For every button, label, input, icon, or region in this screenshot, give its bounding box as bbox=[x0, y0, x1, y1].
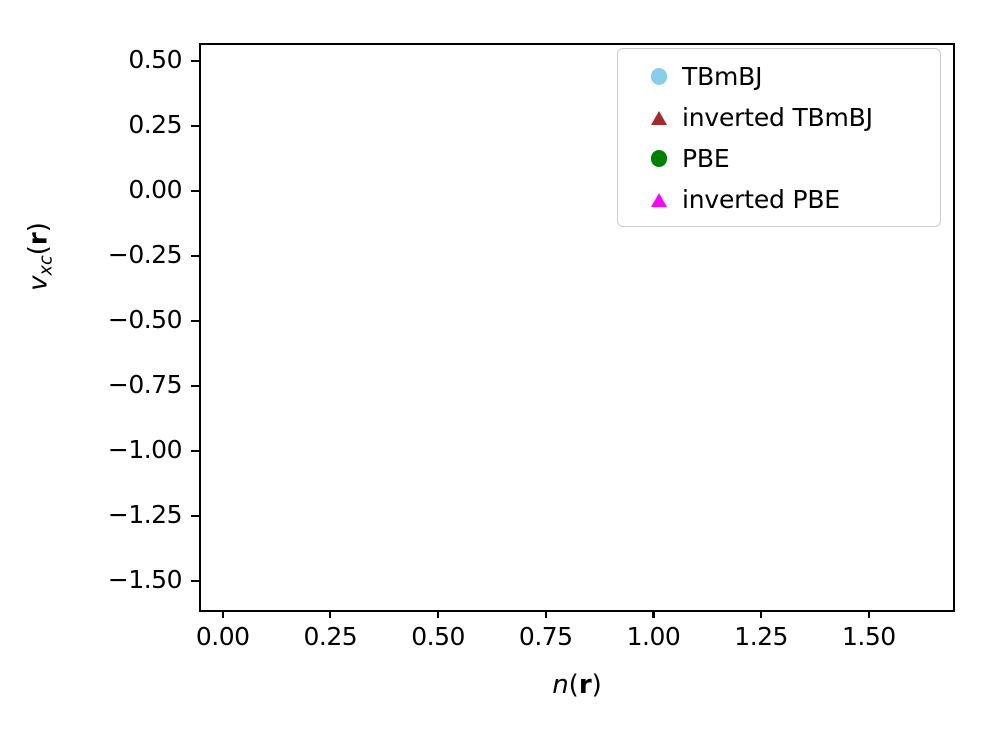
y-tick-mark bbox=[191, 580, 199, 582]
x-tick-label: 0.75 bbox=[486, 622, 606, 651]
y-tick-mark bbox=[191, 450, 199, 452]
triangle-marker bbox=[651, 193, 667, 207]
scatter-plot-figure: 0.000.250.500.751.001.251.500.500.250.00… bbox=[0, 0, 990, 750]
legend-item-inverted-tbmbj: inverted TBmBJ bbox=[618, 97, 940, 138]
y-tick-mark bbox=[191, 385, 199, 387]
legend-label: inverted PBE bbox=[682, 185, 840, 214]
x-tick-mark bbox=[545, 610, 547, 618]
y-tick-mark bbox=[191, 190, 199, 192]
legend-label: TBmBJ bbox=[682, 62, 762, 91]
x-tick-mark bbox=[868, 610, 870, 618]
circle-marker bbox=[651, 68, 667, 84]
y-tick-mark bbox=[191, 320, 199, 322]
y-tick-label: −1.25 bbox=[0, 500, 182, 529]
y-tick-mark bbox=[191, 255, 199, 257]
y-tick-mark bbox=[191, 125, 199, 127]
legend-marker bbox=[636, 68, 682, 84]
circle-marker bbox=[651, 150, 667, 166]
x-tick-label: 1.50 bbox=[809, 622, 929, 651]
x-tick-mark bbox=[222, 610, 224, 618]
legend-marker bbox=[636, 150, 682, 166]
legend-label: PBE bbox=[682, 144, 729, 173]
legend-item-pbe: PBE bbox=[618, 138, 940, 179]
legend-item-inverted-pbe: inverted PBE bbox=[618, 179, 940, 220]
y-tick-label: −1.00 bbox=[0, 435, 182, 464]
y-tick-label: 0.25 bbox=[0, 110, 182, 139]
x-tick-label: 0.25 bbox=[270, 622, 390, 651]
y-tick-mark bbox=[191, 515, 199, 517]
x-tick-label: 1.25 bbox=[701, 622, 821, 651]
x-tick-label: 1.00 bbox=[593, 622, 713, 651]
y-axis-label: vxc(r) bbox=[24, 156, 57, 356]
x-tick-label: 0.00 bbox=[163, 622, 283, 651]
x-axis-label: n(r) bbox=[199, 670, 955, 700]
x-tick-mark bbox=[760, 610, 762, 618]
x-tick-mark bbox=[329, 610, 331, 618]
legend-item-tbmbj: TBmBJ bbox=[618, 56, 940, 97]
legend-marker bbox=[636, 193, 682, 207]
legend-marker bbox=[636, 111, 682, 125]
y-tick-mark bbox=[191, 60, 199, 62]
legend-label: inverted TBmBJ bbox=[682, 103, 873, 132]
x-tick-mark bbox=[437, 610, 439, 618]
triangle-marker bbox=[651, 111, 667, 125]
y-tick-label: −1.50 bbox=[0, 565, 182, 594]
legend-box: TBmBJinverted TBmBJPBEinverted PBE bbox=[617, 48, 941, 227]
x-tick-mark bbox=[652, 610, 654, 618]
x-tick-label: 0.50 bbox=[378, 622, 498, 651]
y-tick-label: 0.50 bbox=[0, 45, 182, 74]
y-tick-label: −0.75 bbox=[0, 370, 182, 399]
